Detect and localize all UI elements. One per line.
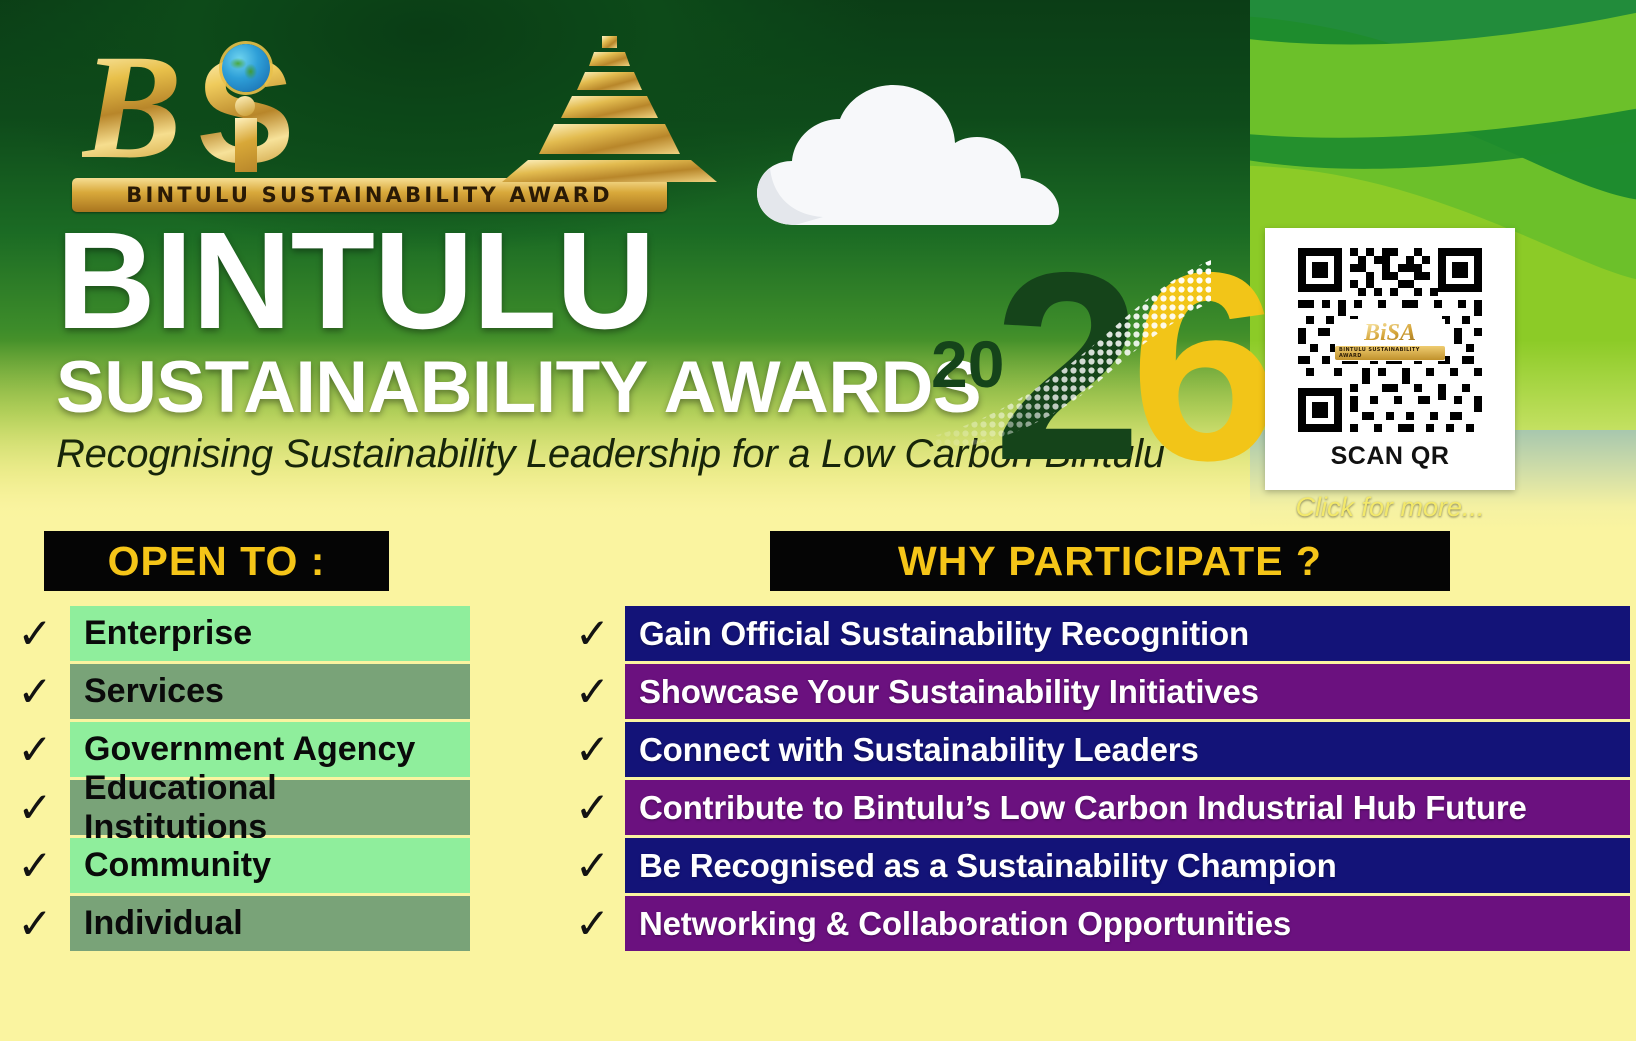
check-icon: ✓ bbox=[0, 896, 70, 951]
list-item[interactable]: ✓ Educational Institutions bbox=[0, 780, 500, 835]
why-participate-list: ✓ Gain Official Sustainability Recogniti… bbox=[560, 606, 1630, 954]
list-item[interactable]: ✓ Networking & Collaboration Opportuniti… bbox=[560, 896, 1630, 951]
check-icon: ✓ bbox=[0, 664, 70, 719]
globe-icon bbox=[222, 44, 270, 92]
bisa-logo[interactable]: B S bbox=[72, 22, 672, 212]
why-participate-item-label: Showcase Your Sustainability Initiatives bbox=[625, 664, 1630, 719]
list-item[interactable]: ✓ Services bbox=[0, 664, 500, 719]
qr-logo-caption: BINTULU SUSTAINABILITY AWARD bbox=[1335, 346, 1445, 360]
open-to-item-label: Enterprise bbox=[70, 606, 470, 661]
logo-letter-i-dot bbox=[235, 96, 255, 116]
check-icon: ✓ bbox=[560, 780, 625, 835]
check-icon: ✓ bbox=[0, 780, 70, 835]
open-to-list: ✓ Enterprise ✓ Services ✓ Government Age… bbox=[0, 606, 500, 954]
check-icon: ✓ bbox=[560, 838, 625, 893]
check-icon: ✓ bbox=[0, 606, 70, 661]
year-prefix-20: 20 bbox=[931, 326, 1004, 402]
why-participate-item-label: Connect with Sustainability Leaders bbox=[625, 722, 1630, 777]
logo-mark: B S bbox=[72, 22, 672, 172]
logo-letter-i-stem bbox=[235, 118, 257, 172]
qr-card[interactable]: BiSA BINTULU SUSTAINABILITY AWARD SCAN Q… bbox=[1265, 228, 1515, 490]
check-icon: ✓ bbox=[560, 896, 625, 951]
tower-icon bbox=[502, 36, 717, 182]
logo-letter-b: B bbox=[82, 43, 182, 172]
list-item[interactable]: ✓ Enterprise bbox=[0, 606, 500, 661]
why-participate-header: WHY PARTICIPATE ? bbox=[770, 531, 1450, 591]
check-icon: ✓ bbox=[560, 664, 625, 719]
check-icon: ✓ bbox=[0, 838, 70, 893]
why-participate-header-label: WHY PARTICIPATE ? bbox=[898, 538, 1322, 585]
open-to-item-label: Services bbox=[70, 664, 470, 719]
poster-root: B S bbox=[0, 0, 1636, 1041]
list-item[interactable]: ✓ Be Recognised as a Sustainability Cham… bbox=[560, 838, 1630, 893]
why-participate-item-label: Networking & Collaboration Opportunities bbox=[625, 896, 1630, 951]
list-item[interactable]: ✓ Community bbox=[0, 838, 500, 893]
check-icon: ✓ bbox=[560, 722, 625, 777]
list-item[interactable]: ✓ Showcase Your Sustainability Initiativ… bbox=[560, 664, 1630, 719]
cloud-icon bbox=[755, 75, 1085, 235]
qr-logo-letters: BiSA bbox=[1364, 321, 1416, 345]
qr-click-link[interactable]: Click for more... bbox=[1265, 492, 1515, 523]
list-item[interactable]: ✓ Individual bbox=[0, 896, 500, 951]
list-item[interactable]: ✓ Gain Official Sustainability Recogniti… bbox=[560, 606, 1630, 661]
open-to-item-label: Individual bbox=[70, 896, 470, 951]
open-to-item-label: Educational Institutions bbox=[70, 780, 470, 835]
open-to-header: OPEN TO : bbox=[44, 531, 389, 591]
open-to-item-label: Community bbox=[70, 838, 470, 893]
qr-embedded-logo: BiSA BINTULU SUSTAINABILITY AWARD bbox=[1335, 319, 1445, 361]
year-digit-2: 2 bbox=[993, 232, 1142, 500]
check-icon: ✓ bbox=[0, 722, 70, 777]
open-to-header-label: OPEN TO : bbox=[108, 538, 326, 585]
why-participate-item-label: Gain Official Sustainability Recognition bbox=[625, 606, 1630, 661]
why-participate-item-label: Be Recognised as a Sustainability Champi… bbox=[625, 838, 1630, 893]
why-participate-item-label: Contribute to Bintulu’s Low Carbon Indus… bbox=[625, 780, 1630, 835]
qr-caption: SCAN QR bbox=[1331, 442, 1450, 471]
list-item[interactable]: ✓ Contribute to Bintulu’s Low Carbon Ind… bbox=[560, 780, 1630, 835]
check-icon: ✓ bbox=[560, 606, 625, 661]
year-graphic: 2 6 20 bbox=[915, 238, 1215, 508]
qr-code-icon[interactable]: BiSA BINTULU SUSTAINABILITY AWARD bbox=[1282, 240, 1498, 440]
list-item[interactable]: ✓ Connect with Sustainability Leaders bbox=[560, 722, 1630, 777]
year-digit-6: 6 bbox=[1130, 232, 1279, 500]
